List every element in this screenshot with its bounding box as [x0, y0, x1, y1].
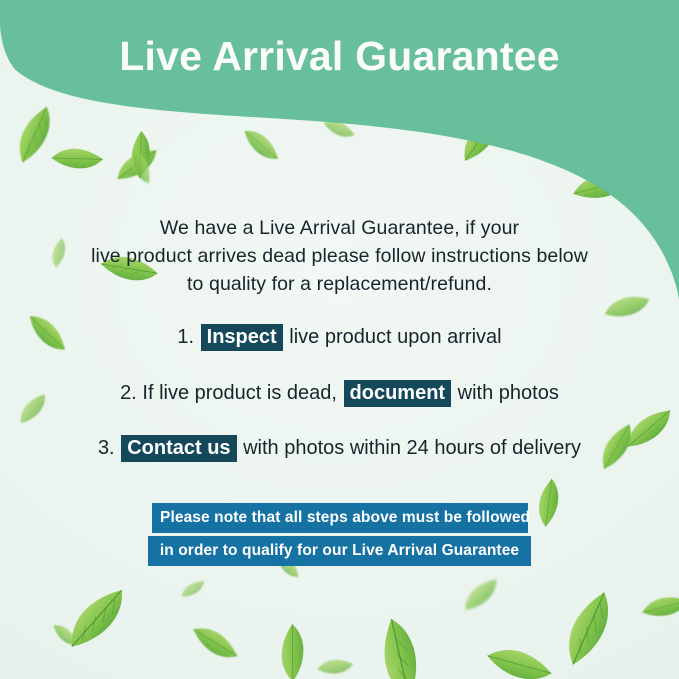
- live-arrival-guarantee-poster: Live Arrival Guarantee We have a Live Ar…: [0, 0, 679, 679]
- step-highlight-document: document: [344, 380, 452, 407]
- step-highlight-contact-us: Contact us: [121, 435, 236, 462]
- step-item-2: 2. If live product is dead, document wit…: [40, 380, 639, 407]
- intro-line-3: to quality for a replacement/refund.: [50, 270, 629, 298]
- step-text: live product upon arrival: [289, 326, 501, 348]
- note-bar-line-1: Please note that all steps above must be…: [152, 503, 528, 533]
- intro-line-2: live product arrives dead please follow …: [50, 242, 629, 270]
- step-number: 1.: [177, 326, 194, 348]
- intro-line-1: We have a Live Arrival Guarantee, if you…: [50, 214, 629, 242]
- step-number: 2.: [120, 382, 137, 404]
- step-item-3: 3. Contact us with photos within 24 hour…: [40, 435, 639, 462]
- step-text: with photos: [458, 382, 559, 404]
- step-number: 3.: [98, 437, 115, 459]
- step-text: with photos within 24 hours of delivery: [243, 437, 581, 459]
- step-item-1: 1. Inspect live product upon arrival: [40, 324, 639, 351]
- step-highlight-inspect: Inspect: [201, 324, 283, 351]
- step-text-before: If live product is dead,: [142, 382, 337, 404]
- guarantee-content: We have a Live Arrival Guarantee, if you…: [0, 0, 679, 679]
- intro-paragraph: We have a Live Arrival Guarantee, if you…: [50, 214, 629, 298]
- note-bar-line-2: in order to qualify for our Live Arrival…: [148, 536, 531, 566]
